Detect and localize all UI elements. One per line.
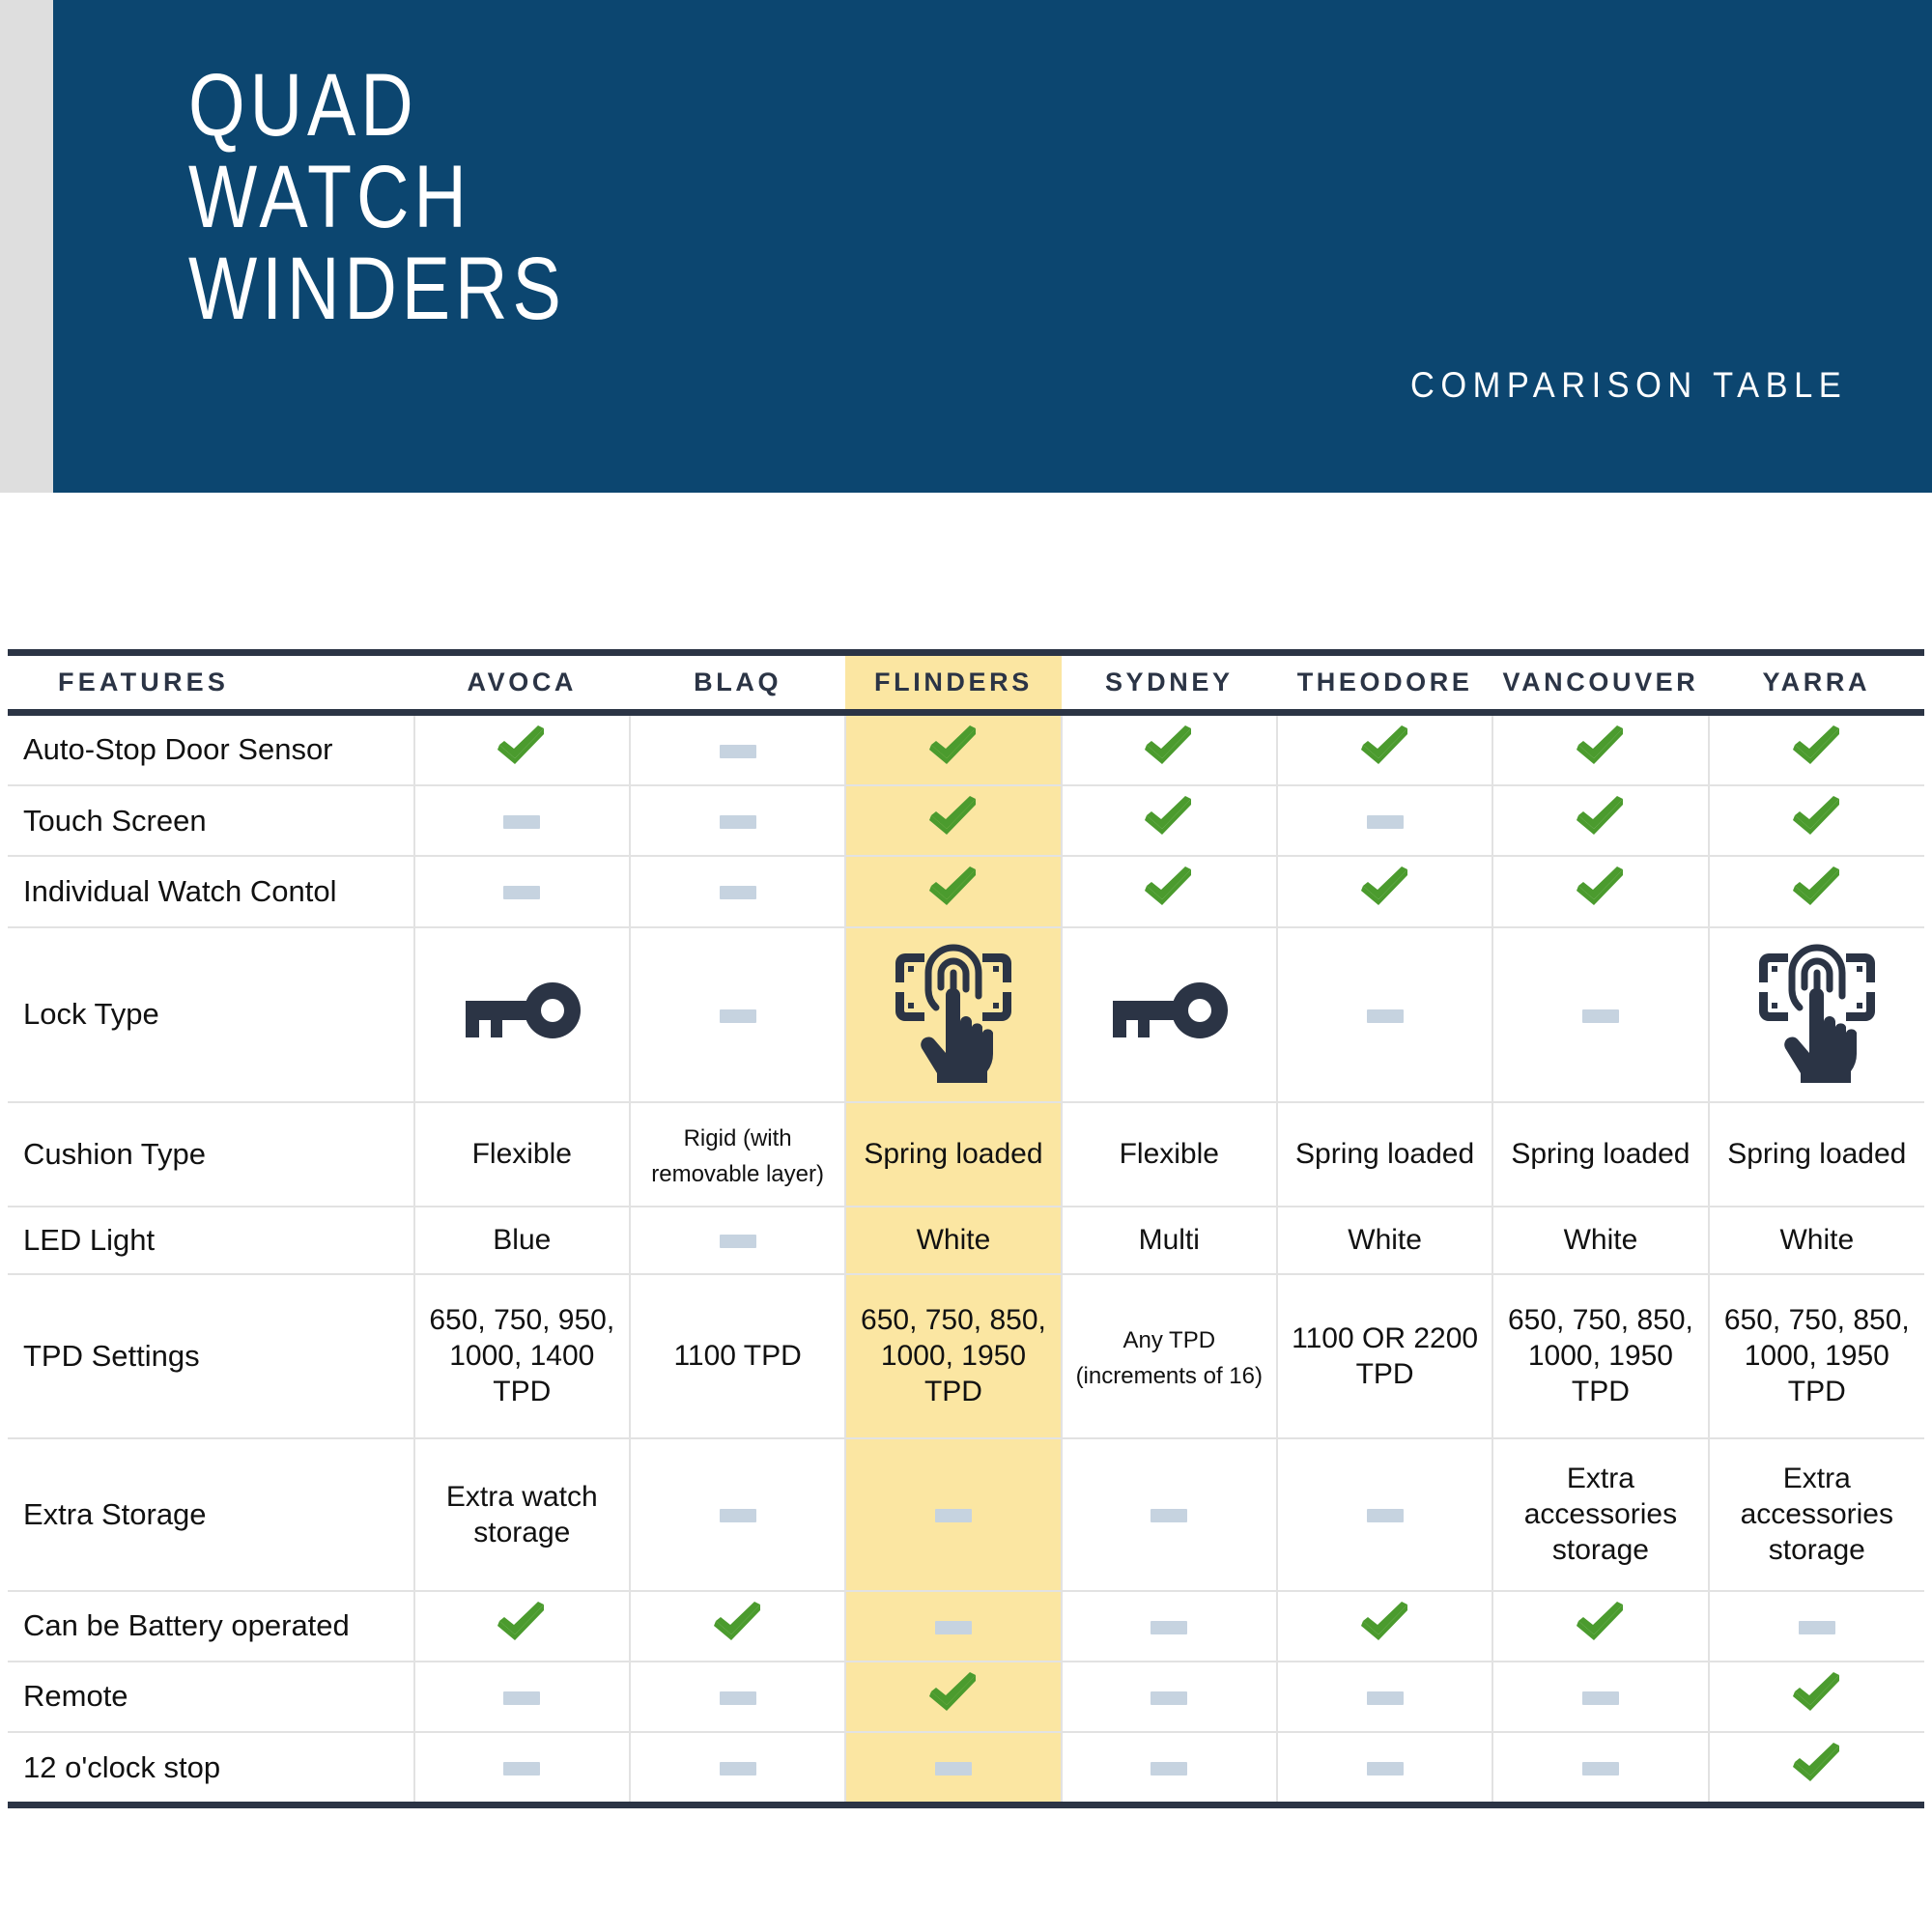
check-icon	[1791, 725, 1843, 766]
title-line-3: WINDERS	[188, 243, 566, 335]
cell-sydney: Any TPD (increments of 16)	[1062, 1274, 1277, 1438]
header-banner: QUAD WATCH WINDERS COMPARISON TABLE	[53, 0, 1932, 493]
table-row: 12 o'clock stop	[8, 1732, 1924, 1802]
cell-avoca: Blue	[414, 1207, 630, 1274]
feature-label: TPD Settings	[8, 1274, 414, 1438]
cell-value: White	[917, 1224, 991, 1256]
table-body: Auto-Stop Door SensorTouch ScreenIndivid…	[8, 713, 1924, 1803]
check-icon	[1791, 796, 1843, 837]
dash-icon	[720, 815, 756, 829]
cell-vancouver: 650, 750, 850, 1000, 1950 TPD	[1492, 1274, 1708, 1438]
cell-vancouver: White	[1492, 1207, 1708, 1274]
cell-value: White	[1348, 1224, 1422, 1256]
dash-icon	[1367, 1509, 1404, 1522]
feature-label: Can be Battery operated	[8, 1591, 414, 1662]
cell-avoca	[414, 713, 630, 786]
column-header-theodore[interactable]: THEODORE	[1277, 653, 1492, 713]
check-icon	[1359, 867, 1411, 907]
check-icon	[1143, 867, 1195, 907]
column-header-features: FEATURES	[8, 653, 414, 713]
cell-value: White	[1564, 1224, 1638, 1256]
cell-sydney	[1062, 927, 1277, 1102]
table-row: Can be Battery operated	[8, 1591, 1924, 1662]
key-lock-icon	[462, 980, 582, 1041]
dash-icon	[1367, 1762, 1404, 1776]
check-icon	[496, 725, 548, 766]
column-header-blaq[interactable]: BLAQ	[630, 653, 845, 713]
cell-blaq	[630, 1591, 845, 1662]
cell-blaq: 1100 TPD	[630, 1274, 845, 1438]
dash-icon	[720, 1009, 756, 1023]
cell-theodore: Spring loaded	[1277, 1102, 1492, 1207]
table-row: TPD Settings650, 750, 950, 1000, 1400 TP…	[8, 1274, 1924, 1438]
dash-icon	[1151, 1691, 1187, 1705]
check-icon	[927, 867, 980, 907]
dash-icon	[1367, 815, 1404, 829]
cell-value: Extra accessories storage	[1741, 1463, 1893, 1566]
cell-theodore	[1277, 1732, 1492, 1802]
cell-avoca	[414, 856, 630, 926]
check-icon	[1791, 867, 1843, 907]
check-icon	[1575, 1602, 1627, 1642]
cell-value: 650, 750, 850, 1000, 1950 TPD	[1724, 1304, 1910, 1407]
check-icon	[1575, 867, 1627, 907]
cell-avoca	[414, 927, 630, 1102]
cell-value: Extra watch storage	[446, 1481, 598, 1548]
feature-label: 12 o'clock stop	[8, 1732, 414, 1802]
table-row: Auto-Stop Door Sensor	[8, 713, 1924, 786]
comparison-table-wrap: FEATURES AVOCA BLAQ FLINDERS SYDNEY THEO…	[8, 649, 1924, 1802]
cell-flinders	[845, 1438, 1061, 1591]
feature-label: Individual Watch Contol	[8, 856, 414, 926]
cell-yarra	[1709, 713, 1924, 786]
fingerprint-lock-icon	[1755, 938, 1879, 1083]
cell-flinders	[845, 927, 1061, 1102]
cell-yarra: White	[1709, 1207, 1924, 1274]
dash-icon	[935, 1509, 972, 1522]
cell-yarra	[1709, 1732, 1924, 1802]
dash-icon	[1151, 1762, 1187, 1776]
title-line-2: WATCH	[188, 152, 566, 243]
cell-value: Spring loaded	[1295, 1138, 1474, 1170]
dash-icon	[503, 1691, 540, 1705]
cell-blaq	[630, 856, 845, 926]
cell-vancouver	[1492, 856, 1708, 926]
cell-theodore	[1277, 1662, 1492, 1732]
cell-flinders	[845, 713, 1061, 786]
check-icon	[927, 796, 980, 837]
cell-theodore	[1277, 856, 1492, 926]
key-lock-icon	[1109, 980, 1229, 1041]
dash-icon	[1582, 1762, 1619, 1776]
cell-blaq	[630, 713, 845, 786]
dash-icon	[720, 1762, 756, 1776]
dash-icon	[720, 745, 756, 758]
cell-avoca	[414, 785, 630, 856]
cell-value: Flexible	[472, 1138, 572, 1170]
dash-icon	[503, 815, 540, 829]
comparison-table: FEATURES AVOCA BLAQ FLINDERS SYDNEY THEO…	[8, 649, 1924, 1802]
dash-icon	[935, 1621, 972, 1634]
cell-yarra	[1709, 927, 1924, 1102]
cell-flinders	[845, 785, 1061, 856]
dash-icon	[1582, 1009, 1619, 1023]
cell-yarra	[1709, 1662, 1924, 1732]
check-icon	[1143, 796, 1195, 837]
cell-flinders	[845, 1591, 1061, 1662]
check-icon	[1143, 725, 1195, 766]
cell-blaq	[630, 1207, 845, 1274]
dash-icon	[1151, 1621, 1187, 1634]
header-row: FEATURES AVOCA BLAQ FLINDERS SYDNEY THEO…	[8, 653, 1924, 713]
table-row: LED LightBlueWhiteMultiWhiteWhiteWhite	[8, 1207, 1924, 1274]
check-icon	[712, 1602, 764, 1642]
cell-theodore	[1277, 1438, 1492, 1591]
cell-value: Spring loaded	[1727, 1138, 1906, 1170]
check-icon	[1359, 1602, 1411, 1642]
cell-sydney	[1062, 1732, 1277, 1802]
table-bottom-rule	[8, 1802, 1924, 1808]
cell-sydney	[1062, 1662, 1277, 1732]
table-row: Remote	[8, 1662, 1924, 1732]
cell-yarra	[1709, 856, 1924, 926]
cell-vancouver	[1492, 713, 1708, 786]
cell-yarra: Extra accessories storage	[1709, 1438, 1924, 1591]
check-icon	[1575, 796, 1627, 837]
cell-flinders: Spring loaded	[845, 1102, 1061, 1207]
cell-vancouver	[1492, 927, 1708, 1102]
dash-icon	[935, 1762, 972, 1776]
cell-value: Spring loaded	[864, 1138, 1042, 1170]
cell-sydney	[1062, 1438, 1277, 1591]
cell-theodore	[1277, 785, 1492, 856]
check-icon	[927, 1672, 980, 1713]
cell-sydney: Flexible	[1062, 1102, 1277, 1207]
dash-icon	[1582, 1691, 1619, 1705]
cell-theodore: 1100 OR 2200 TPD	[1277, 1274, 1492, 1438]
check-icon	[1791, 1743, 1843, 1783]
feature-label: Auto-Stop Door Sensor	[8, 713, 414, 786]
check-icon	[1359, 725, 1411, 766]
cell-vancouver	[1492, 785, 1708, 856]
cell-sydney	[1062, 1591, 1277, 1662]
cell-value: 1100 TPD	[673, 1340, 801, 1372]
title-line-1: QUAD	[188, 60, 566, 152]
check-icon	[1791, 1672, 1843, 1713]
cell-value: Spring loaded	[1511, 1138, 1690, 1170]
column-header-yarra[interactable]: YARRA	[1709, 653, 1924, 713]
cell-sydney	[1062, 785, 1277, 856]
column-header-flinders[interactable]: FLINDERS	[845, 653, 1061, 713]
cell-sydney: Multi	[1062, 1207, 1277, 1274]
table-row: Extra StorageExtra watch storageExtra ac…	[8, 1438, 1924, 1591]
feature-label: LED Light	[8, 1207, 414, 1274]
cell-vancouver	[1492, 1591, 1708, 1662]
dash-icon	[720, 1691, 756, 1705]
cell-value: 650, 750, 850, 1000, 1950 TPD	[1508, 1304, 1693, 1407]
cell-value: Blue	[493, 1224, 551, 1256]
dash-icon	[503, 1762, 540, 1776]
dash-icon	[720, 1509, 756, 1522]
cell-yarra	[1709, 785, 1924, 856]
dash-icon	[1367, 1691, 1404, 1705]
table-row: Individual Watch Contol	[8, 856, 1924, 926]
feature-label: Extra Storage	[8, 1438, 414, 1591]
column-header-vancouver[interactable]: VANCOUVER	[1492, 653, 1708, 713]
cell-yarra: Spring loaded	[1709, 1102, 1924, 1207]
cell-sydney	[1062, 856, 1277, 926]
cell-theodore	[1277, 713, 1492, 786]
cell-blaq	[630, 1662, 845, 1732]
cell-theodore: White	[1277, 1207, 1492, 1274]
dash-icon	[1367, 1009, 1404, 1023]
cell-value: 1100 OR 2200 TPD	[1292, 1322, 1478, 1390]
table-row: Cushion TypeFlexibleRigid (with removabl…	[8, 1102, 1924, 1207]
table-head: FEATURES AVOCA BLAQ FLINDERS SYDNEY THEO…	[8, 653, 1924, 713]
fingerprint-lock-icon	[892, 938, 1015, 1083]
cell-blaq	[630, 1438, 845, 1591]
page-title: QUAD WATCH WINDERS	[188, 60, 566, 334]
cell-value: White	[1779, 1224, 1854, 1256]
feature-label: Remote	[8, 1662, 414, 1732]
cell-vancouver	[1492, 1732, 1708, 1802]
cell-vancouver: Spring loaded	[1492, 1102, 1708, 1207]
cell-value: Any TPD (increments of 16)	[1076, 1327, 1263, 1389]
cell-avoca: Extra watch storage	[414, 1438, 630, 1591]
check-icon	[927, 725, 980, 766]
cell-avoca	[414, 1662, 630, 1732]
check-icon	[496, 1602, 548, 1642]
cell-blaq	[630, 1732, 845, 1802]
cell-theodore	[1277, 927, 1492, 1102]
cell-value: 650, 750, 850, 1000, 1950 TPD	[861, 1304, 1046, 1407]
dash-icon	[720, 1235, 756, 1248]
cell-avoca: Flexible	[414, 1102, 630, 1207]
cell-blaq: Rigid (with removable layer)	[630, 1102, 845, 1207]
cell-yarra: 650, 750, 850, 1000, 1950 TPD	[1709, 1274, 1924, 1438]
feature-label: Cushion Type	[8, 1102, 414, 1207]
cell-value: 650, 750, 950, 1000, 1400 TPD	[429, 1304, 614, 1407]
cell-sydney	[1062, 713, 1277, 786]
comparison-table-page: QUAD WATCH WINDERS COMPARISON TABLE FEAT…	[0, 0, 1932, 1932]
cell-flinders: 650, 750, 850, 1000, 1950 TPD	[845, 1274, 1061, 1438]
feature-label: Touch Screen	[8, 785, 414, 856]
table-row: Touch Screen	[8, 785, 1924, 856]
cell-avoca	[414, 1591, 630, 1662]
cell-blaq	[630, 785, 845, 856]
cell-avoca	[414, 1732, 630, 1802]
cell-value: Rigid (with removable layer)	[651, 1125, 824, 1187]
feature-label: Lock Type	[8, 927, 414, 1102]
cell-avoca: 650, 750, 950, 1000, 1400 TPD	[414, 1274, 630, 1438]
cell-blaq	[630, 927, 845, 1102]
column-header-avoca[interactable]: AVOCA	[414, 653, 630, 713]
cell-value: Multi	[1139, 1224, 1200, 1256]
cell-flinders	[845, 1732, 1061, 1802]
cell-theodore	[1277, 1591, 1492, 1662]
dash-icon	[720, 886, 756, 899]
cell-flinders: White	[845, 1207, 1061, 1274]
cell-vancouver	[1492, 1662, 1708, 1732]
dash-icon	[1799, 1621, 1835, 1634]
dash-icon	[1151, 1509, 1187, 1522]
cell-vancouver: Extra accessories storage	[1492, 1438, 1708, 1591]
check-icon	[1575, 725, 1627, 766]
column-header-sydney[interactable]: SYDNEY	[1062, 653, 1277, 713]
cell-flinders	[845, 856, 1061, 926]
cell-yarra	[1709, 1591, 1924, 1662]
cell-flinders	[845, 1662, 1061, 1732]
table-row: Lock Type	[8, 927, 1924, 1102]
cell-value: Extra accessories storage	[1524, 1463, 1677, 1566]
page-subtitle: COMPARISON TABLE	[1410, 365, 1847, 406]
dash-icon	[503, 886, 540, 899]
cell-value: Flexible	[1120, 1138, 1219, 1170]
